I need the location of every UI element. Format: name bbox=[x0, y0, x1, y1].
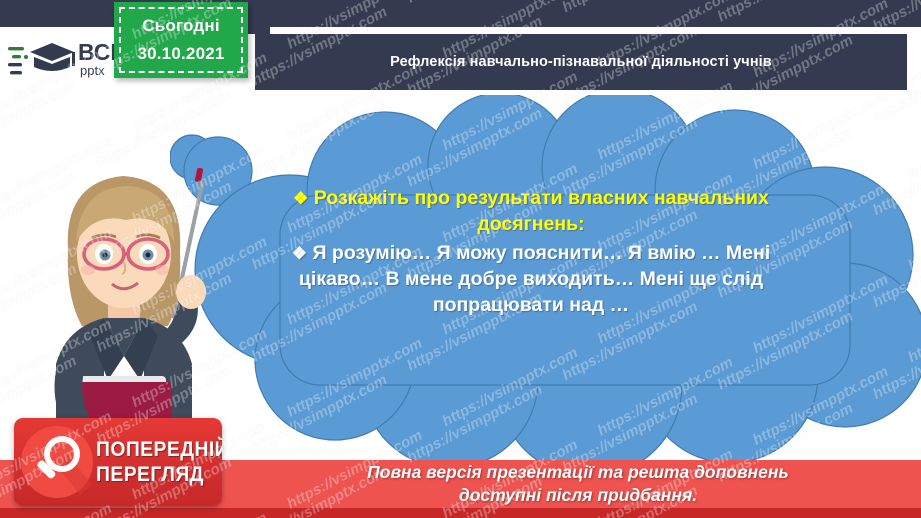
today-label: Сьогодні bbox=[114, 12, 248, 40]
bottom-banner-line2: доступні після придбання. bbox=[245, 484, 911, 507]
preview-badge-words: ПОПЕРЕДНІЙ ПЕРЕГЛЯД bbox=[96, 437, 222, 487]
cloud-heading-text: Розкажіть про результати власних навчаль… bbox=[314, 187, 769, 235]
bottom-banner-line1: Повна версія презентації та решта доповн… bbox=[245, 461, 911, 484]
slide-header-bar: Рефлексія навчально-пізнавальної діяльно… bbox=[255, 34, 907, 90]
cloud-text-block: ❖ Розкажіть про результати власних навча… bbox=[285, 186, 777, 319]
date-badge-lines: Сьогодні 30.10.2021 bbox=[114, 12, 248, 68]
preview-badge-line1: ПОПЕРЕДНІЙ bbox=[96, 437, 222, 462]
today-date-badge: Сьогодні 30.10.2021 bbox=[114, 2, 248, 78]
bottom-banner-edge bbox=[0, 508, 921, 518]
slide-title: Рефлексія навчально-пізнавальної діяльно… bbox=[255, 54, 907, 70]
preview-badge-line2: ПЕРЕГЛЯД bbox=[96, 462, 222, 487]
today-date: 30.10.2021 bbox=[114, 40, 248, 68]
cloud-body-text: Я розумію… Я можу пояснити… Я вмію … Мен… bbox=[299, 242, 770, 315]
svg-text:pptx: pptx bbox=[80, 63, 105, 78]
cloud-body: ❖ Я розумію… Я можу пояснити… Я вмію … М… bbox=[285, 241, 777, 318]
graduation-cap-icon bbox=[30, 43, 75, 71]
bottom-banner-text: Повна версія презентації та решта доповн… bbox=[245, 461, 911, 507]
magnifier-icon bbox=[18, 423, 96, 501]
preview-badge[interactable]: ПОПЕРЕДНІЙ ПЕРЕГЛЯД bbox=[14, 418, 222, 506]
teacher-illustration bbox=[28, 150, 258, 450]
cloud-heading: ❖ Розкажіть про результати власних навча… bbox=[285, 186, 777, 237]
heading-bullet-icon: ❖ bbox=[293, 189, 308, 208]
presentation-slide: ВСІМ pptx Сьогодні 30.10.2021 Рефлексія … bbox=[0, 0, 921, 518]
body-bullet-icon: ❖ bbox=[292, 244, 307, 263]
speed-lines-icon bbox=[8, 47, 28, 74]
hand bbox=[176, 275, 206, 309]
